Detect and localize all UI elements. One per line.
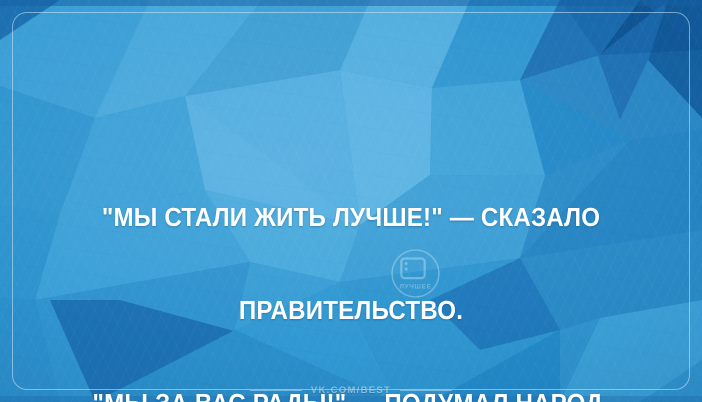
quote-card: "МЫ СТАЛИ ЖИТЬ ЛУЧШЕ!" — СКАЗАЛО ПРАВИТЕ… xyxy=(0,0,702,402)
luchshee-watermark-badge: ЛУЧШЕЕ xyxy=(391,249,440,298)
quote-line-1: "МЫ СТАЛИ ЖИТЬ ЛУЧШЕ!" — СКАЗАЛО xyxy=(19,203,682,234)
quote-line-2: ПРАВИТЕЛЬСТВО. xyxy=(19,296,682,327)
svg-text:ЛУЧШЕЕ: ЛУЧШЕЕ xyxy=(399,283,431,290)
quote-line-3: "МЫ ЗА ВАС РАДЫ!" — ПОДУМАЛ НАРОД. xyxy=(19,389,682,402)
quote-text: "МЫ СТАЛИ ЖИТЬ ЛУЧШЕ!" — СКАЗАЛО ПРАВИТЕ… xyxy=(19,141,682,402)
speech-bubble-icon: ЛУЧШЕЕ xyxy=(391,249,440,298)
